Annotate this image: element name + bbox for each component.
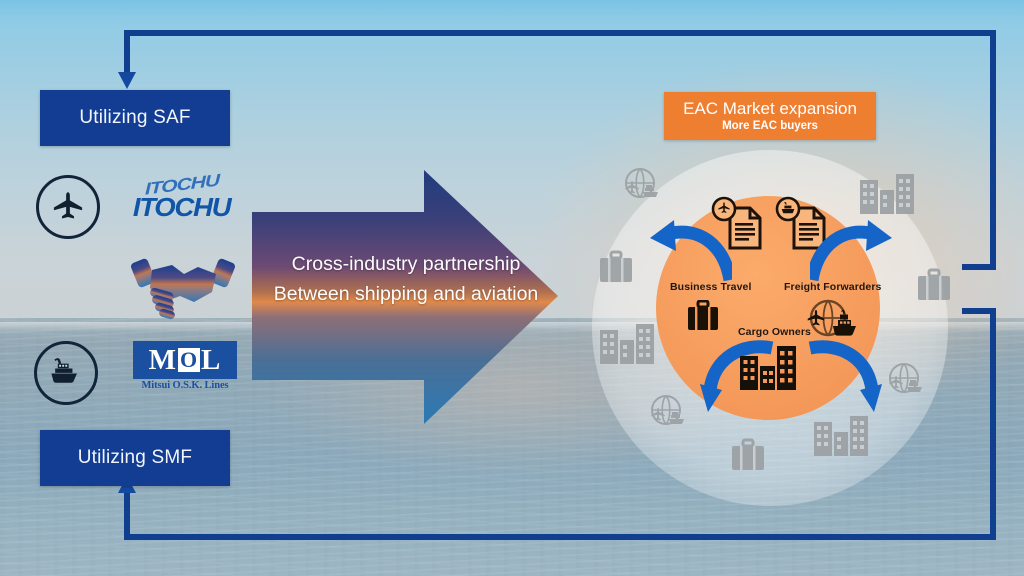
eac-market-expansion-subtitle: More EAC buyers	[722, 119, 818, 134]
right-vertical-lower	[990, 308, 996, 540]
right-vertical-upper	[990, 30, 996, 270]
suitcase-icon	[686, 300, 720, 337]
itochu-logo-text: ITOCHU	[133, 192, 245, 223]
ghost-plane-ship-globe-icon	[620, 165, 666, 212]
ghost-buildings-icon	[860, 170, 914, 219]
ghost-suitcase-icon	[598, 250, 634, 289]
cross-industry-arrow-text: Cross-industry partnership Between shipp…	[258, 249, 554, 309]
utilizing-smf-label: Utilizing SMF	[78, 447, 193, 469]
handshake-icon	[128, 252, 238, 322]
mol-letter-o: O	[178, 348, 200, 372]
mol-logo-plate: M O L	[133, 341, 237, 379]
eac-market-expansion-box[interactable]: EAC Market expansion More EAC buyers	[664, 92, 876, 140]
mol-letter-l: L	[201, 344, 221, 377]
itochu-logo: ITOCHU ITOCHU	[136, 172, 242, 234]
ghost-plane-ship-globe-icon-2	[884, 360, 930, 407]
utilizing-saf-box[interactable]: Utilizing SAF	[40, 90, 230, 146]
cycle-label-business-travel: Business Travel	[670, 281, 751, 293]
cycle-label-cargo-owners: Cargo Owners	[738, 326, 811, 338]
mol-logo-letters: M O L	[149, 344, 222, 377]
bottom-feedback-line	[124, 534, 996, 540]
cycle-label-freight-forwarders: Freight Forwarders	[784, 281, 881, 293]
ghost-plane-ship-globe-icon-3	[646, 392, 692, 439]
arrow-down-icon	[118, 72, 136, 89]
mol-letter-m: M	[149, 344, 177, 377]
arrow-line-1: Cross-industry partnership	[258, 249, 554, 279]
buildings-icon	[740, 342, 796, 395]
right-upper-connector	[962, 264, 996, 270]
mol-logo-subtitle: Mitsui O.S.K. Lines	[133, 380, 237, 391]
ghost-buildings-icon-2	[600, 320, 654, 369]
bottom-feedback-up-leg	[124, 490, 130, 538]
top-feedback-line	[124, 30, 996, 36]
ghost-suitcase-icon-3	[730, 438, 766, 477]
mol-logo: M O L Mitsui O.S.K. Lines	[133, 341, 237, 399]
utilizing-saf-label: Utilizing SAF	[79, 107, 190, 129]
arrow-line-2: Between shipping and aviation	[258, 279, 554, 309]
top-feedback-down-leg	[124, 30, 130, 76]
ghost-suitcase-icon-2	[916, 268, 952, 307]
cargo-ship-circle-icon	[34, 341, 98, 405]
slide-canvas: Utilizing SAF ITOCHU ITOCHU	[0, 0, 1024, 576]
eac-market-expansion-title: EAC Market expansion	[683, 99, 857, 119]
airplane-circle-icon	[36, 175, 100, 239]
utilizing-smf-box[interactable]: Utilizing SMF	[40, 430, 230, 486]
